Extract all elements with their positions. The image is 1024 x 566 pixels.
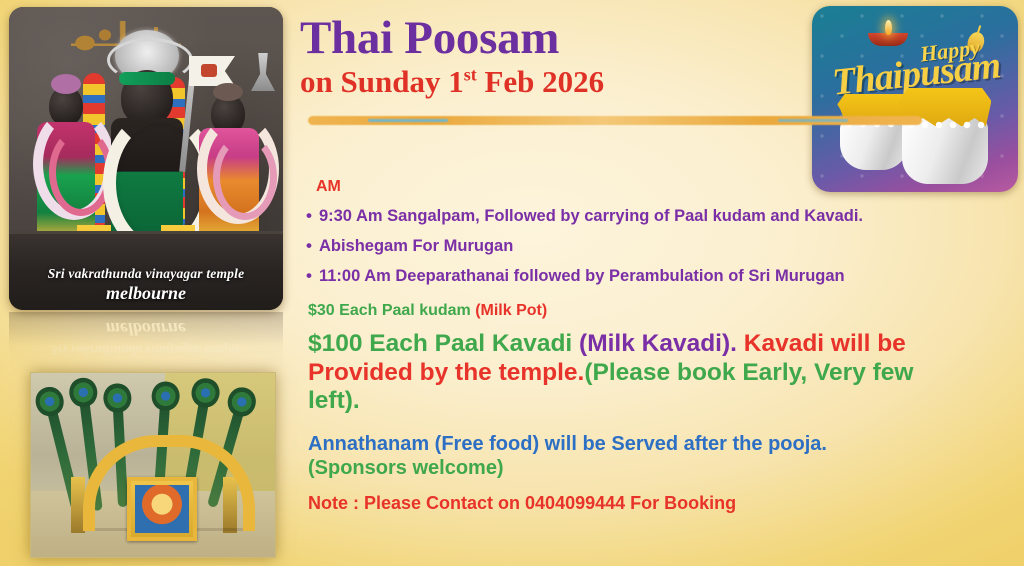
bullet-icon: • xyxy=(306,267,312,284)
decorative-divider xyxy=(300,112,930,128)
murugan-picture-frame xyxy=(127,477,197,541)
schedule-item: • 11:00 Am Deeparathanai followed by Per… xyxy=(306,267,960,286)
deity-right-consort xyxy=(197,88,269,236)
date-ordinal: st xyxy=(464,65,477,85)
paal-kudam-price: $30 Each Paal kudam (Milk Pot) xyxy=(308,302,960,320)
annathanam-notice: Annathanam (Free food) will be Served af… xyxy=(308,432,940,480)
reflection-temple-line: Sri vakrathunda vinayagar temple xyxy=(9,342,283,358)
temple-photo-caption: Sri vakrathunda vinayagar temple melbour… xyxy=(9,266,283,304)
bullet-icon: • xyxy=(306,207,312,224)
flyer-content: Thai Poosam on Sunday 1st Feb 2026 AM • … xyxy=(300,14,960,514)
deity-left-consort xyxy=(33,86,105,236)
thaipusam-event-flyer: Sri vakrathunda vinayagar temple melbour… xyxy=(0,0,1024,566)
event-date-subtitle: on Sunday 1st Feb 2026 xyxy=(300,65,960,98)
kavadi-photo xyxy=(30,372,276,558)
temple-name-line: Sri vakrathunda vinayagar temple xyxy=(9,266,283,282)
sponsors-welcome-text: (Sponsors welcome) xyxy=(308,457,504,479)
schedule-item-text: 11:00 Am Deeparathanai followed by Peram… xyxy=(319,267,845,286)
schedule-period-label: AM xyxy=(316,178,960,196)
schedule-item-text: Abishegam For Murugan xyxy=(319,237,513,256)
annathanam-text: Annathanam (Free food) will be Served af… xyxy=(308,433,827,455)
paal-kavadi-price-note: (Milk Kavadi). xyxy=(579,330,737,357)
bullet-icon: • xyxy=(306,237,312,254)
schedule-item: • 9:30 Am Sangalpam, Followed by carryin… xyxy=(306,207,960,226)
page-title: Thai Poosam xyxy=(300,14,960,63)
date-prefix: on Sunday 1 xyxy=(300,64,464,99)
temple-city-line: melbourne xyxy=(9,283,283,304)
schedule-item-text: 9:30 Am Sangalpam, Followed by carrying … xyxy=(319,207,863,226)
murugan-image xyxy=(135,485,189,533)
temple-photo: Sri vakrathunda vinayagar temple melbour… xyxy=(9,7,283,310)
paal-kavadi-price: $100 Each Paal Kavadi (Milk Kavadi). Kav… xyxy=(308,330,940,415)
deity-murugan xyxy=(97,36,197,236)
booking-contact-note: Note : Please Contact on 0404099444 For … xyxy=(308,493,960,514)
paal-kudam-price-note: (Milk Pot) xyxy=(475,302,547,319)
reflection-city-line: melbourne xyxy=(9,318,283,339)
paal-kudam-price-amount: $30 Each Paal kudam xyxy=(308,302,475,319)
paal-kavadi-price-amount: $100 Each Paal Kavadi xyxy=(308,330,579,357)
schedule-item: • Abishegam For Murugan xyxy=(306,237,960,256)
date-suffix: Feb 2026 xyxy=(477,64,604,99)
flower-garland xyxy=(197,114,279,224)
divider-bar xyxy=(308,116,922,125)
deity-headband xyxy=(119,72,175,85)
temple-photo-reflection: melbourne Sri vakrathunda vinayagar temp… xyxy=(9,312,283,374)
